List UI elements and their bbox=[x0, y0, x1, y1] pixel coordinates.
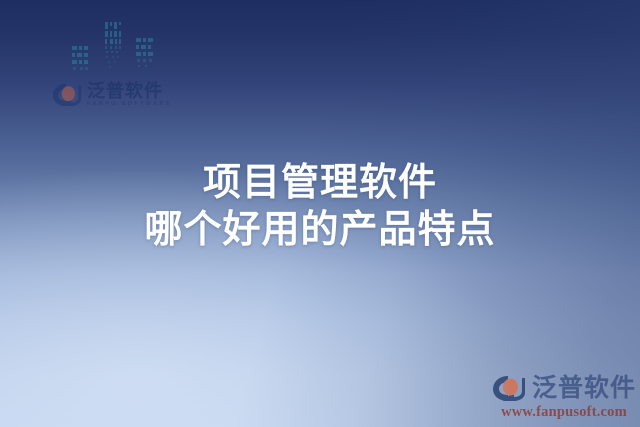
headline: 项目管理软件 哪个好用的产品特点 bbox=[0, 160, 640, 254]
brand-watermark-bottom: 泛普软件 www.fanpusoft.com bbox=[492, 374, 636, 420]
fanpu-logo-mark-bottom-icon bbox=[492, 374, 526, 403]
cityscape-icon bbox=[66, 16, 176, 74]
logo-bottom: 泛普软件 bbox=[492, 374, 636, 403]
logo-bottom-name: 泛普软件 bbox=[532, 376, 636, 401]
headline-line-2: 哪个好用的产品特点 bbox=[0, 207, 640, 254]
headline-line-1: 项目管理软件 bbox=[0, 160, 640, 207]
fanpu-logo-mark-icon bbox=[52, 82, 82, 108]
site-url: www.fanpusoft.com bbox=[501, 405, 627, 420]
promo-banner: 泛普软件 FANPU SOFTWARE 项目管理软件 哪个好用的产品特点 泛普软… bbox=[0, 0, 640, 427]
brand-watermark-top: 泛普软件 FANPU SOFTWARE bbox=[52, 16, 212, 116]
logo-top-subname: FANPU SOFTWARE bbox=[87, 102, 172, 108]
logo-top: 泛普软件 FANPU SOFTWARE bbox=[52, 82, 172, 108]
logo-top-name: 泛普软件 bbox=[87, 82, 172, 100]
